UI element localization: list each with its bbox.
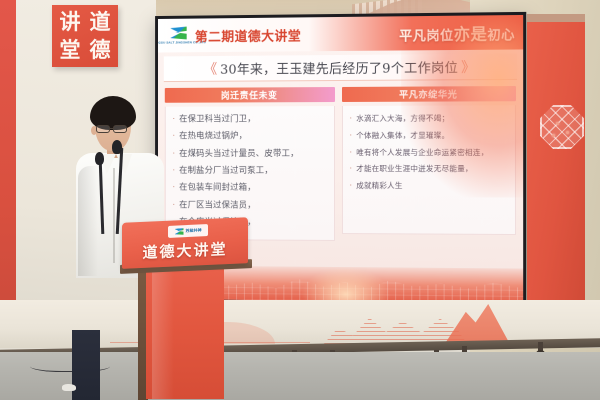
bullet-dot-icon: ·	[349, 132, 352, 141]
list-item: ·在煤码头当过计量员、皮带工，	[173, 150, 329, 159]
list-item: ·在保卫科当过门卫，	[173, 115, 329, 125]
podium-logo: 苏盐井神	[168, 224, 208, 238]
motto-part-2: 亦是	[454, 24, 488, 44]
bullet-text: 成就精彩人生	[356, 182, 402, 190]
slide-subtitle-text: 30年来，王玉建先后经历了9个工作岗位	[220, 57, 458, 78]
list-item: ·水滴汇入大海，方得不竭；	[349, 114, 509, 123]
right-red-panel	[527, 22, 585, 322]
lattice-accent-dot	[556, 122, 559, 125]
seal-char-4: 堂	[55, 36, 85, 64]
column-header-left: 岗迁责任未变	[165, 87, 335, 103]
slide-column-right: 平凡亦绽华光 ·水滴汇入大海，方得不竭； ·个体融入集体，才显璀璨。 ·唯有将个…	[341, 86, 516, 243]
seal-char-3: 德	[85, 36, 115, 64]
column-body-right: ·水滴汇入大海，方得不竭； ·个体融入集体，才显璀璨。 ·唯有将个人发展与企业命…	[341, 105, 516, 235]
slide-header-motto: 平凡岗位亦是初心	[399, 20, 515, 45]
podium: 苏盐井神 道德大讲堂	[118, 222, 254, 400]
slide-title: 第二期道德大讲堂	[195, 25, 301, 45]
motto-part-3: 初心	[487, 28, 515, 43]
speaker-trousers	[72, 330, 100, 400]
bullet-dot-icon: ·	[349, 165, 352, 174]
list-item: ·唯有将个人发展与企业命运紧密相连，	[349, 148, 509, 157]
left-red-pilaster	[0, 0, 16, 340]
column-header-left-text: 岗迁责任未变	[221, 88, 278, 101]
wall-seal-plaque: 道 讲 德 堂	[52, 5, 118, 67]
bullet-text: 在制盐分厂当过司泵工，	[179, 167, 273, 176]
bullet-text: 在煤码头当过计量员、皮带工，	[179, 150, 299, 159]
speaker-shoe	[62, 384, 76, 391]
open-bracket-icon: 《	[201, 58, 221, 78]
bullet-dot-icon: ·	[349, 149, 352, 158]
list-item: ·成就精彩人生	[349, 182, 509, 191]
list-item: ·才能在职业生涯中迸发无尽能量，	[349, 165, 509, 174]
bullet-text: 个体融入集体，才显璀璨。	[356, 132, 449, 140]
company-logo-icon: JIANGSU SALT JINGSHEN CO.,LTD	[166, 25, 191, 47]
microphone-icon	[112, 140, 122, 154]
bullet-text: 在包装车间封过箱，	[179, 184, 256, 193]
list-item: ·在制盐分厂当过司泵工，	[173, 167, 329, 176]
presentation-room-scene: 道 讲 德 堂 JIANGSU SALT JINGSHEN CO.,LTD 第二…	[0, 0, 600, 400]
slide-column-left: 岗迁责任未变 ·在保卫科当过门卫， ·在热电烧过锅炉， ·在煤码头当过计量员、皮…	[165, 87, 335, 241]
lattice-accent-dot	[552, 134, 555, 137]
list-item: ·在包装车间封过箱，	[173, 184, 329, 194]
list-item: ·个体融入集体，才显璀璨。	[349, 131, 509, 140]
glasses-icon	[113, 125, 127, 133]
lattice-accent-dot	[566, 131, 569, 134]
bullet-dot-icon: ·	[349, 115, 352, 124]
column-header-right: 平凡亦绽华光	[341, 86, 516, 102]
glasses-icon	[96, 125, 110, 133]
bullet-text: 才能在职业生涯中迸发无尽能量，	[356, 165, 473, 173]
bullet-text: 在厂区当过保洁员，	[179, 201, 256, 211]
motto-part-1: 平凡岗位	[399, 29, 454, 45]
bullet-text: 水滴汇入大海，方得不竭；	[356, 115, 449, 124]
microphone-icon	[95, 152, 104, 165]
bullet-text: 唯有将个人发展与企业命运紧密相连，	[356, 148, 488, 156]
list-item: ·在热电烧过锅炉，	[173, 132, 329, 142]
seal-char-1: 道	[85, 8, 115, 36]
podium-brand-text: 苏盐井神	[186, 227, 202, 234]
close-bracket-icon: 》	[458, 56, 478, 76]
column-header-right-text: 平凡亦绽华光	[399, 87, 457, 100]
slide-subtitle-band: 《 30年来，王玉建先后经历了9个工作岗位 》	[164, 54, 517, 83]
seal-char-2: 讲	[55, 8, 85, 36]
bullet-dot-icon: ·	[349, 182, 352, 191]
slide-header-bar: JIANGSU SALT JINGSHEN CO.,LTD 第二期道德大讲堂 平…	[158, 15, 523, 53]
list-item: ·在厂区当过保洁员，	[173, 201, 329, 211]
bullet-text: 在保卫科当过门卫，	[179, 115, 256, 124]
bullet-text: 在热电烧过锅炉，	[179, 133, 247, 142]
